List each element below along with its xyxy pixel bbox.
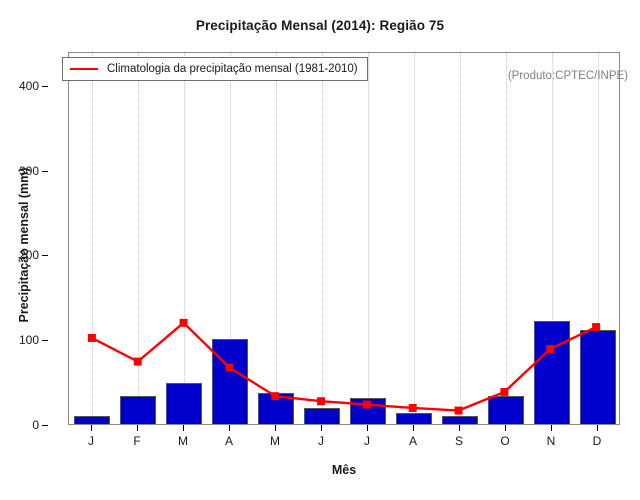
x-tick-label-1: F (133, 434, 140, 448)
x-tick-mark (91, 425, 92, 431)
x-tick-label-6: J (364, 434, 370, 448)
climatology-line-svg (69, 53, 619, 424)
climatology-marker-a-3 (225, 364, 233, 372)
x-axis-label: Mês (68, 463, 620, 477)
legend-item-label: Climatologia da precipitação mensal (198… (107, 63, 358, 75)
climatology-marker-j-5 (317, 397, 325, 405)
climatology-marker-m-2 (180, 319, 188, 327)
climatology-marker-o-9 (500, 388, 508, 396)
x-tick-mark (597, 425, 598, 431)
climatology-marker-s-8 (455, 407, 463, 415)
x-tick-mark (505, 425, 506, 431)
x-tick-label-10: N (547, 434, 556, 448)
x-tick-mark (229, 425, 230, 431)
x-axis: Mês JFMAMJJASOND (0, 425, 640, 500)
y-tick-label-100: 100 (19, 333, 39, 347)
y-tick-label-400: 400 (19, 79, 39, 93)
x-tick-mark (551, 425, 552, 431)
x-tick-label-5: J (318, 434, 324, 448)
x-tick-label-3: A (225, 434, 233, 448)
climatology-polyline (92, 323, 596, 411)
y-tick-mark (42, 340, 48, 341)
climatology-marker-a-7 (409, 404, 417, 412)
x-tick-label-2: M (178, 434, 188, 448)
x-tick-label-4: M (270, 434, 280, 448)
plot-area (68, 52, 620, 425)
x-tick-mark (367, 425, 368, 431)
climatology-marker-n-10 (546, 345, 554, 353)
x-tick-mark (413, 425, 414, 431)
x-tick-label-11: D (593, 434, 602, 448)
x-tick-mark (275, 425, 276, 431)
legend-line-swatch (70, 68, 98, 70)
y-tick-mark (42, 255, 48, 256)
x-tick-mark (321, 425, 322, 431)
climatology-marker-j-0 (88, 334, 96, 342)
x-tick-label-8: S (455, 434, 463, 448)
climatology-marker-m-4 (271, 392, 279, 400)
y-tick-mark (42, 86, 48, 87)
legend: Climatologia da precipitação mensal (198… (62, 57, 368, 81)
x-tick-label-7: A (409, 434, 417, 448)
chart-title: Precipitação Mensal (2014): Região 75 (0, 18, 640, 33)
x-tick-mark (183, 425, 184, 431)
y-axis-label: Precipitação mensal (mm) (17, 125, 31, 365)
x-tick-mark (137, 425, 138, 431)
y-tick-label-200: 200 (19, 248, 39, 262)
y-tick-label-300: 300 (19, 164, 39, 178)
line-series-layer (69, 53, 619, 424)
climatology-marker-j-6 (363, 401, 371, 409)
climatology-marker-f-1 (134, 358, 142, 366)
y-tick-mark (42, 171, 48, 172)
chart-figure: Precipitação Mensal (2014): Região 75 Pr… (0, 0, 640, 500)
climatology-marker-d-11 (592, 323, 600, 331)
x-tick-label-9: O (500, 434, 509, 448)
x-tick-label-0: J (88, 434, 94, 448)
x-tick-mark (459, 425, 460, 431)
credit-annotation: (Produto:CPTEC/INPE) (508, 70, 628, 82)
